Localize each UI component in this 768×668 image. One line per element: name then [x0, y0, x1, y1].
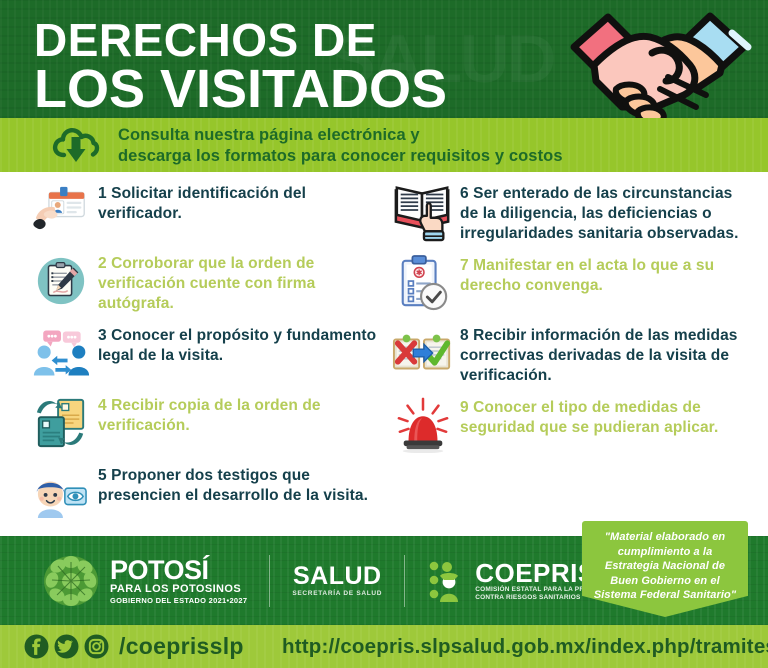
siren-alarm-icon	[392, 394, 454, 456]
banner-text: Consulta nuestra página electrónica y de…	[118, 125, 563, 167]
footer-logos: POTOSÍ PARA LOS POTOSINOS GOBIERNO DEL E…	[40, 546, 620, 616]
compliance-badge-text: "Material elaborado en cumplimiento a la…	[582, 521, 748, 603]
bottom-contact-bar: /coeprisslp http://coepris.slpsalud.gob.…	[0, 625, 768, 668]
open-book-hand-icon	[392, 180, 454, 242]
facebook-icon[interactable]	[24, 634, 49, 659]
rights-column-right: 6 Ser enterado de las circunstancias de …	[392, 180, 740, 464]
list-item: 4 Recibir copia de la orden de verificac…	[30, 392, 382, 454]
clipboard-signature-icon	[30, 250, 92, 312]
website-url[interactable]: http://coepris.slpsalud.gob.mx/index.php…	[282, 634, 768, 659]
list-item-text: 4 Recibir copia de la orden de verificac…	[92, 392, 382, 436]
list-item-text: 8 Recibir información de las medidas cor…	[454, 322, 740, 386]
title-line-1: DERECHOS DE	[34, 16, 447, 64]
potosi-wordmark: POTOSÍ PARA LOS POTOSINOS GOBIERNO DEL E…	[110, 557, 247, 606]
instagram-icon[interactable]	[84, 634, 109, 659]
banner-line-1: Consulta nuestra página electrónica y	[118, 125, 563, 146]
list-item: 6 Ser enterado de las circunstancias de …	[392, 180, 740, 244]
list-item: 5 Proponer dos testigos que presencien e…	[30, 462, 382, 524]
download-banner: Consulta nuestra página electrónica y de…	[0, 118, 768, 172]
list-item-text: 7 Manifestar en el acta lo que a su dere…	[454, 252, 740, 296]
list-item: 3 Conocer el propósito y fundamento lega…	[30, 322, 382, 384]
rights-column-left: 1 Solicitar identificación del verificad…	[30, 180, 382, 532]
social-handle[interactable]: /coeprisslp	[119, 633, 244, 660]
list-item-text: 9 Conocer el tipo de medidas de segurida…	[454, 394, 740, 438]
header-banner: SALUD DERECHOS DE LOS VISITADOS	[0, 0, 768, 118]
list-item: 7 Manifestar en el acta lo que a su dere…	[392, 252, 740, 314]
list-item: 8 Recibir información de las medidas cor…	[392, 322, 740, 386]
salud-main-text: SALUD	[292, 563, 382, 589]
salud-sub-text: SECRETARÍA DE SALUD	[292, 589, 382, 599]
rights-list-area: 1 Solicitar identificación del verificad…	[0, 172, 768, 536]
potosi-period-text: GOBIERNO DEL ESTADO 2021•2027	[110, 596, 247, 606]
handshake-illustration	[556, 3, 762, 118]
list-item: 1 Solicitar identificación del verificad…	[30, 180, 382, 242]
list-item: 2 Corroborar que la orden de verificació…	[30, 250, 382, 314]
salud-wordmark: SALUD SECRETARÍA DE SALUD	[292, 563, 382, 599]
list-item-text: 3 Conocer el propósito y fundamento lega…	[92, 322, 382, 366]
cloud-download-icon	[52, 125, 100, 165]
coepris-people-mark	[427, 558, 467, 604]
logo-divider-2	[404, 555, 405, 607]
clipboard-check-icon	[392, 252, 454, 314]
list-item-text: 1 Solicitar identificación del verificad…	[92, 180, 382, 224]
potosi-leaf-logo	[40, 550, 102, 612]
witness-eye-icon	[30, 462, 92, 524]
potosi-main-text: POTOSÍ	[110, 557, 247, 583]
social-links: /coeprisslp	[24, 633, 244, 660]
list-item-text: 6 Ser enterado de las circunstancias de …	[454, 180, 740, 244]
twitter-icon[interactable]	[54, 634, 79, 659]
check-cross-clipboards-icon	[392, 322, 454, 384]
id-badge-hand-icon	[30, 180, 92, 242]
list-item-text: 2 Corroborar que la orden de verificació…	[92, 250, 382, 314]
document-copy-icon	[30, 392, 92, 454]
banner-line-2: descarga los formatos para conocer requi…	[118, 146, 563, 167]
list-item-text: 5 Proponer dos testigos que presencien e…	[92, 462, 382, 506]
list-item: 9 Conocer el tipo de medidas de segurida…	[392, 394, 740, 456]
title-line-2: LOS VISITADOS	[34, 62, 447, 116]
potosi-sub-text: PARA LOS POTOSINOS	[110, 583, 247, 596]
two-people-dialogue-icon	[30, 322, 92, 384]
logo-divider-1	[269, 555, 270, 607]
page-title: DERECHOS DE LOS VISITADOS	[34, 16, 447, 116]
